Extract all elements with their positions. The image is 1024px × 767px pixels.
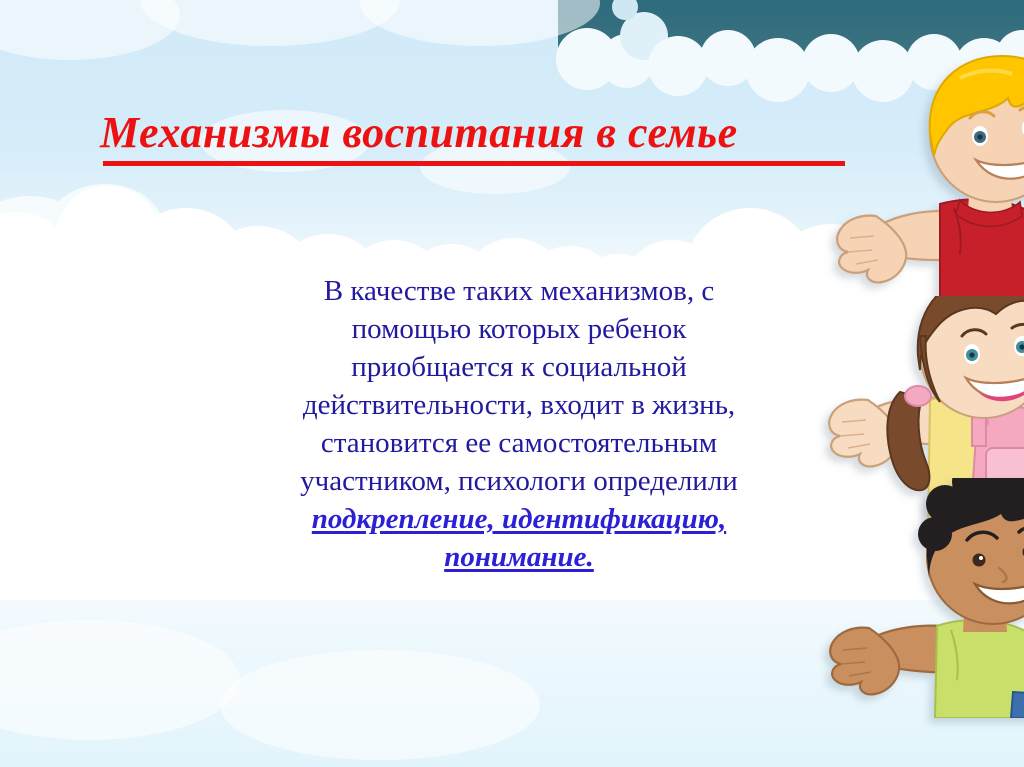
scallop-bump xyxy=(954,38,1014,98)
scallop-notch xyxy=(612,0,638,20)
cloud-puff xyxy=(0,196,90,282)
cloud-puff xyxy=(56,186,160,286)
faint-cloud xyxy=(220,650,540,760)
faint-cloud xyxy=(0,620,240,740)
body-line: действительности, входит в жизнь, xyxy=(238,386,800,424)
top-accent-band xyxy=(558,0,1024,62)
body-line: участником, психологи определили xyxy=(238,462,800,500)
scallop-bump xyxy=(620,12,668,60)
body-line: становится ее самостоятельным xyxy=(238,424,800,462)
body-line-emphasis: подкрепление, идентификацию, xyxy=(238,500,800,538)
child-brown-hair-girl xyxy=(772,296,1024,526)
body-line: В качестве таких механизмов, с xyxy=(238,272,800,310)
slide-title: Механизмы воспитания в семье xyxy=(100,110,860,156)
body-line-emphasis: понимание. xyxy=(238,538,800,576)
faint-cloud xyxy=(140,0,400,46)
cloud-puff xyxy=(0,212,72,312)
body-line: помощью которых ребенок xyxy=(238,310,800,348)
faint-cloud xyxy=(0,0,180,60)
scallop-bump xyxy=(852,40,914,102)
cloud-puff xyxy=(160,268,230,326)
scallop-bump xyxy=(600,34,654,88)
scallop-bump xyxy=(556,28,618,90)
scallop-bump xyxy=(648,36,708,96)
child-blond-boy xyxy=(764,48,1024,298)
body-line: приобщается к социальной xyxy=(238,348,800,386)
scallop-bump xyxy=(746,38,810,102)
child-dark-hair-boy xyxy=(769,478,1024,718)
scallop-bump xyxy=(996,30,1024,82)
presentation-slide: Механизмы воспитания в семье В качестве … xyxy=(0,0,1024,767)
blond-boy-arm xyxy=(837,211,970,282)
girl-arm xyxy=(829,398,966,467)
dark-boy-arm xyxy=(830,626,969,695)
scallop-bump xyxy=(906,34,962,90)
slide-title-underline xyxy=(103,161,845,166)
cloud-puff xyxy=(126,208,246,316)
slide-body-text: В качестве таких механизмов, с помощью к… xyxy=(238,272,800,576)
scallop-bump xyxy=(700,30,756,86)
cloud-puff xyxy=(40,220,144,316)
cloud-puff xyxy=(46,184,164,276)
scallop-bump xyxy=(802,34,860,92)
faint-cloud xyxy=(360,0,600,46)
cloud-puff xyxy=(848,236,964,340)
cloud-puff xyxy=(930,246,1024,344)
